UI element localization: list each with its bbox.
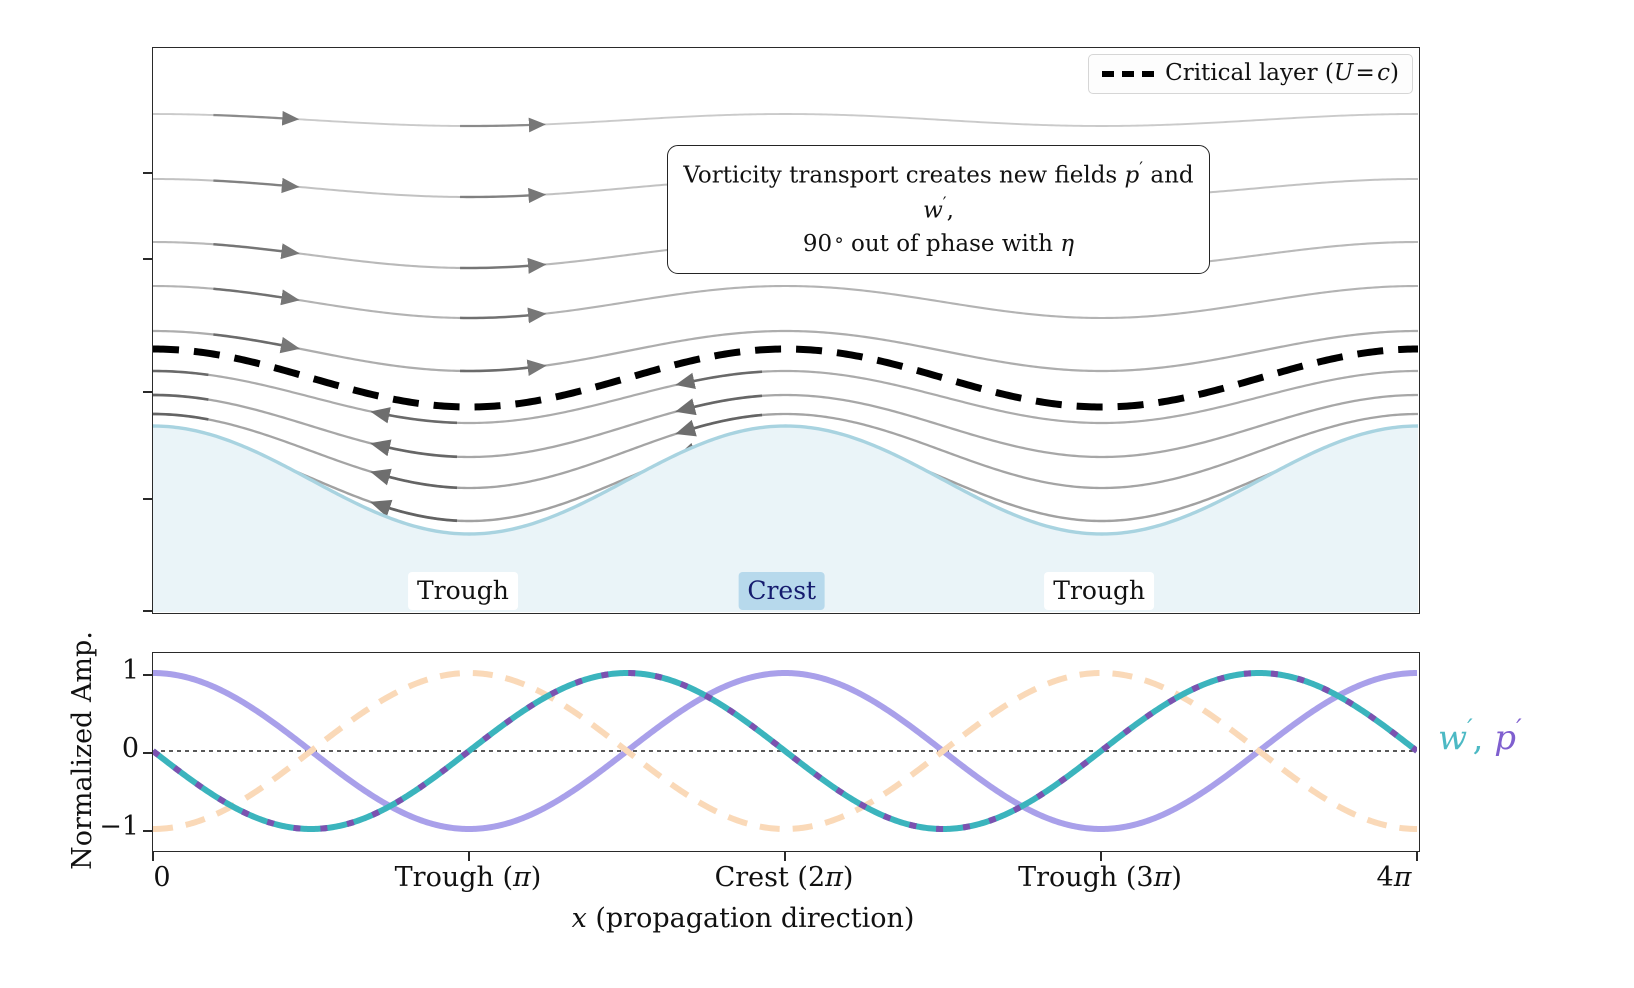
streamline — [153, 331, 1418, 371]
x-tick — [468, 852, 470, 861]
streamline-arrow — [460, 265, 539, 268]
y-tick — [143, 391, 152, 393]
annotation-line-1: Vorticity transport creates new fields p… — [682, 157, 1195, 228]
streamline-arrow — [378, 413, 457, 423]
annotation-line-2: 90 ° out of phase with η — [682, 228, 1195, 261]
streamline — [153, 286, 1418, 318]
wp-prime-label: w′, p′ — [1438, 714, 1522, 758]
streamline-arrow — [460, 125, 539, 126]
p-prime-label: p′ — [1494, 718, 1521, 758]
streamline — [153, 114, 1418, 126]
y-tick — [143, 498, 152, 500]
amplitude-plot — [153, 653, 1417, 849]
w-prime-label: w′ — [1438, 718, 1473, 758]
streamline-arrow — [378, 445, 457, 457]
x-tick — [152, 852, 154, 861]
streamline-arrow — [213, 181, 292, 187]
x-tick — [1416, 852, 1418, 861]
streamline-arrow — [378, 474, 457, 488]
wave-label-trough-0: Trough — [408, 572, 518, 610]
streamline-arrow — [213, 244, 292, 252]
legend: Critical layer (U = c) — [1088, 54, 1413, 94]
streamline-arrow — [460, 366, 539, 371]
y-tick — [143, 172, 152, 174]
x-tick — [784, 852, 786, 861]
streamline-arrow — [213, 289, 292, 299]
y-tick — [143, 674, 152, 676]
wave-label-trough-2: Trough — [1044, 572, 1154, 610]
streamline-arrow — [153, 371, 208, 375]
streamline — [153, 371, 1418, 423]
streamline-arrow — [153, 395, 208, 400]
x-tick-label: Crest (2π) — [715, 862, 854, 893]
x-axis-label: x (propagation direction) — [0, 903, 1634, 934]
label-comma: , — [1473, 718, 1484, 758]
streamline-arrow — [684, 396, 763, 410]
streamline-plot — [153, 48, 1418, 612]
x-tick — [1100, 852, 1102, 861]
y-tick — [143, 830, 152, 832]
streamline-arrow — [213, 334, 292, 347]
streamline-arrow — [684, 372, 763, 384]
legend-label: Critical layer (U = c) — [1165, 62, 1399, 85]
x-tick-label: Trough (π) — [395, 862, 542, 893]
y-tick — [143, 258, 152, 260]
legend-dash-icon — [1102, 71, 1154, 77]
y-tick — [143, 610, 152, 612]
x-tick-label: 0 — [153, 862, 170, 893]
streamline-panel: Critical layer (U = c) Vorticity transpo… — [152, 47, 1420, 614]
streamline-arrow — [460, 195, 539, 197]
x-tick-label: Trough (3π) — [1018, 862, 1182, 893]
streamline-arrow — [460, 314, 539, 318]
amplitude-panel — [152, 652, 1420, 852]
figure-root: Critical layer (U = c) Vorticity transpo… — [0, 0, 1634, 988]
streamline-arrow — [153, 414, 208, 419]
y-axis-label-text: Normalized Amp. — [67, 631, 98, 870]
annotation-box: Vorticity transport creates new fields p… — [667, 145, 1210, 274]
streamline-arrow — [213, 115, 292, 119]
y-axis-label: Normalized Amp. — [62, 635, 102, 865]
wave-label-crest-1: Crest — [738, 572, 825, 610]
x-tick-label: 4π — [1377, 862, 1412, 893]
y-tick — [143, 752, 152, 754]
